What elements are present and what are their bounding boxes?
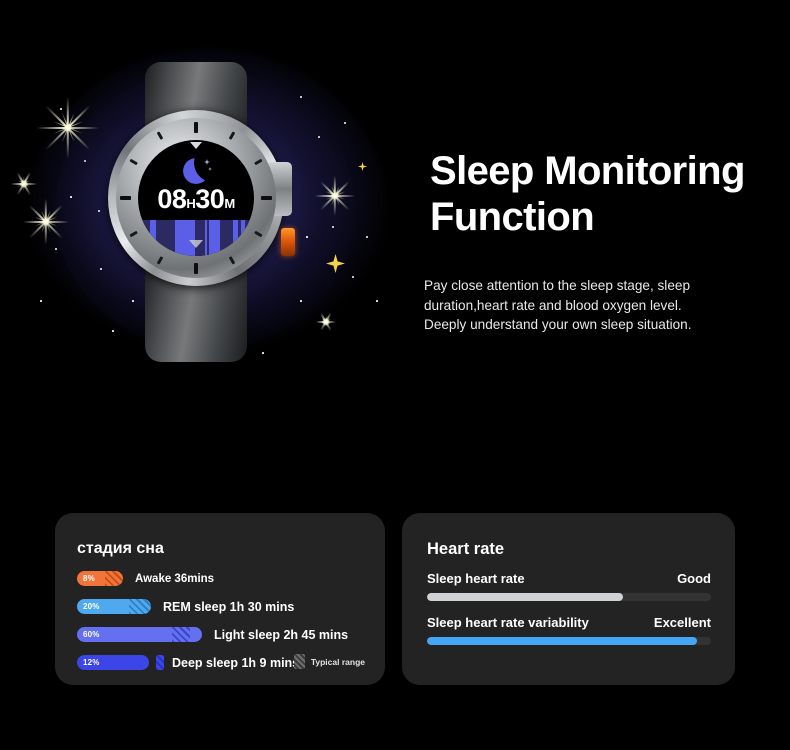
watch-screen[interactable]: 08H30M 08H 30M [138, 140, 254, 256]
heart-rate-metric: Sleep heart rate variabilityExcellent [427, 615, 711, 645]
sleep-stage-label: Deep sleep 1h 9 mins [172, 656, 299, 670]
starburst-icon [316, 312, 336, 332]
heart-rate-card: Heart rate Sleep heart rateGoodSleep hea… [402, 513, 735, 685]
sleep-stage-row: 60%Light sleep 2h 45 mins [77, 627, 348, 642]
caret-up-icon [190, 142, 202, 149]
starburst-icon [315, 176, 355, 216]
sleep-stage-typical-range [105, 571, 123, 586]
bezel-tick [120, 196, 131, 200]
bezel-tick [129, 159, 137, 166]
bezel-tick [129, 231, 137, 238]
heart-rate-metric-name: Sleep heart rate variability [427, 615, 589, 630]
sleep-stage-label: Awake 36mins [135, 573, 214, 585]
bezel-tick [194, 122, 198, 133]
heart-rate-metric-value: Good [677, 571, 711, 586]
total-minutes-unit: M [224, 196, 234, 211]
page-body-copy: Pay close attention to the sleep stage, … [424, 276, 724, 335]
heart-rate-fill [427, 593, 623, 601]
hypnogram-segment [195, 220, 206, 256]
hypnogram-segment [150, 220, 157, 256]
sleep-total-duration: 08H30M [138, 184, 254, 215]
star-dot [70, 196, 72, 198]
starburst-icon [23, 199, 69, 245]
sleep-stage-row: 8%Awake 36mins [77, 571, 214, 586]
sleep-stage-percent: 8% [77, 574, 95, 583]
sleep-stage-card: стадия сна 8%Awake 36mins20%REM sleep 1h… [55, 513, 385, 685]
watch-bezel: 08H30M 08H 30M [116, 118, 276, 278]
chevron-down-icon[interactable] [189, 240, 203, 248]
sleep-stage-title: стадия сна [77, 540, 164, 558]
heart-rate-track [427, 637, 711, 645]
bezel-tick [229, 131, 236, 139]
bezel-tick [194, 263, 198, 274]
sleep-stage-percent: 20% [77, 602, 100, 611]
sleep-stage-row: 20%REM sleep 1h 30 mins [77, 599, 294, 614]
sleep-stage-bar-fill: 12% [77, 655, 149, 670]
hypnogram-segment [138, 220, 150, 256]
star-dot [318, 136, 320, 138]
sleep-stage-bar: 20% [77, 599, 151, 614]
star-dot [55, 248, 57, 250]
star-dot [306, 236, 308, 238]
sleep-stage-typical-range [129, 599, 151, 614]
typical-range-label: Typical range [311, 657, 365, 667]
watch-crown-button[interactable] [281, 228, 295, 256]
sleep-stage-percent: 12% [77, 658, 100, 667]
heart-rate-metric: Sleep heart rateGood [427, 571, 711, 601]
starburst-icon [11, 171, 37, 197]
total-hours-unit: H [186, 196, 195, 211]
bezel-tick [261, 196, 272, 200]
star-dot [352, 276, 354, 278]
total-hours: 08 [157, 184, 186, 214]
sleep-stage-row: 12%Deep sleep 1h 9 mins [77, 655, 299, 670]
total-minutes: 30 [195, 184, 224, 214]
star-dot [366, 236, 368, 238]
sleep-stage-bar-fill: 8% [77, 571, 105, 586]
page-headline: Sleep Monitoring Function [430, 148, 775, 240]
bezel-tick [229, 256, 236, 264]
bezel-tick [254, 231, 262, 238]
bezel-tick [254, 159, 262, 166]
watch-case: 08H30M 08H 30M [108, 110, 284, 286]
typical-range-legend: Typical range [294, 654, 365, 669]
star-dot [40, 300, 42, 302]
sleep-stage-bar-fill: 20% [77, 599, 129, 614]
star-dot [300, 300, 302, 302]
sleep-stage-typical-range [156, 655, 164, 670]
heart-rate-metric-name: Sleep heart rate [427, 571, 525, 586]
crescent-moon-icon [183, 158, 209, 184]
hypnogram-segment [245, 220, 254, 256]
sleep-stage-label: Light sleep 2h 45 mins [214, 628, 348, 642]
bezel-tick [157, 131, 164, 139]
sleep-stage-bar: 12% [77, 655, 149, 670]
heart-rate-metric-value: Excellent [654, 615, 711, 630]
sleep-stage-bar: 8% [77, 571, 123, 586]
heart-rate-fill [427, 637, 697, 645]
starburst-icon [37, 97, 99, 159]
star-dot [344, 122, 346, 124]
star-dot [84, 160, 86, 162]
star-dot [376, 300, 378, 302]
heart-rate-title: Heart rate [427, 540, 504, 559]
sleep-stage-percent: 60% [77, 630, 100, 639]
hypnogram-segment [156, 220, 174, 256]
sleep-stage-bar: 60% [77, 627, 202, 642]
hero-section: 08H30M 08H 30M [0, 0, 790, 480]
sleep-stage-bar-fill: 60% [77, 627, 172, 642]
sleep-stage-bar-tail [190, 627, 203, 642]
hypnogram-segment [220, 220, 233, 256]
star-dot [300, 96, 302, 98]
sleep-stage-label: REM sleep 1h 30 mins [163, 600, 294, 614]
hypnogram-segment [209, 220, 220, 256]
smartwatch-product-image: 08H30M 08H 30M [98, 62, 294, 362]
bezel-tick [157, 256, 164, 264]
sleep-stage-typical-range [172, 627, 190, 642]
heart-rate-track [427, 593, 711, 601]
hatched-swatch-icon [294, 654, 305, 669]
hypnogram-segment [175, 220, 195, 256]
sleep-hypnogram-chart [138, 220, 254, 256]
